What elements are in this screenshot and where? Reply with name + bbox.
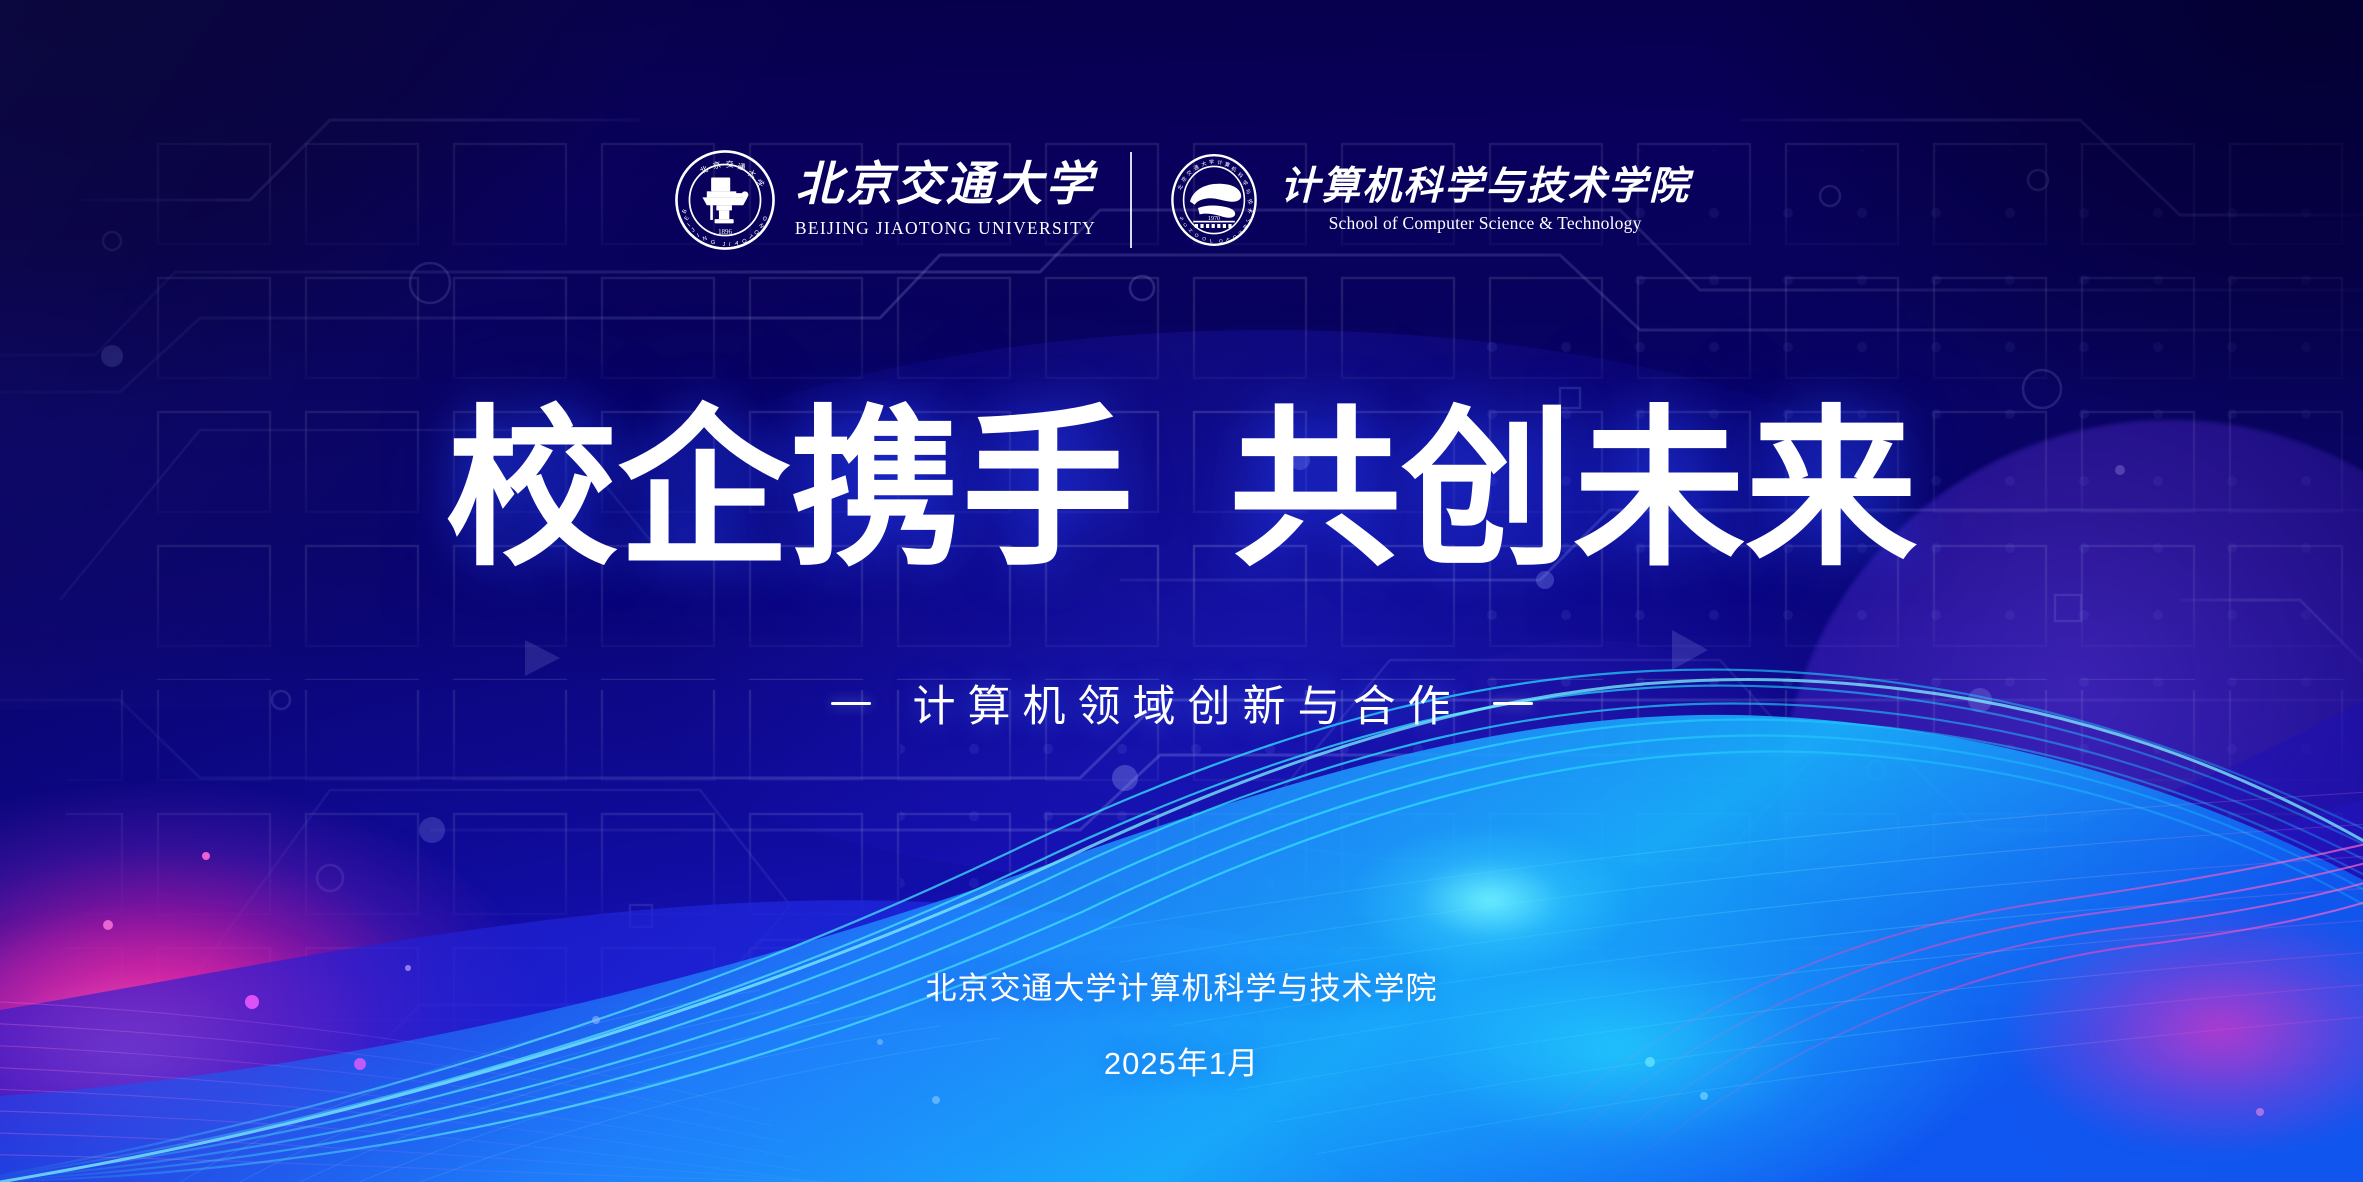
bjtu-seal-icon: 北 京 交 通 大 学 1896 B E I J I — [673, 148, 777, 252]
svg-text:1896: 1896 — [718, 229, 732, 236]
poster-canvas: 北 京 交 通 大 学 1896 B E I J I — [0, 0, 2363, 1182]
bjtu-logo-block: 北 京 交 通 大 学 1896 B E I J I — [673, 148, 1096, 252]
svg-text:算: 算 — [1224, 161, 1231, 169]
subtitle-row: 计算机领域创新与合作 — [0, 672, 2363, 734]
svg-text:S: S — [1179, 216, 1186, 222]
svg-text:学: 学 — [1209, 158, 1215, 166]
svg-text:G: G — [760, 216, 768, 223]
svg-text:技: 技 — [1246, 198, 1254, 206]
footer-date: 2025年1月 — [0, 1038, 2363, 1083]
subtitle-dash-right — [1493, 702, 1533, 705]
svg-text:计: 计 — [1217, 159, 1223, 166]
svg-text:京: 京 — [712, 159, 722, 171]
scs-logo-block: 1970 北 京 交 通 大 学 计 算 机 科 学 与 — [1166, 152, 1690, 248]
svg-text:J: J — [722, 242, 725, 248]
footer-organization: 北京交通大学计算机科学与技术学院 — [0, 963, 2363, 1008]
svg-text:B: B — [682, 208, 689, 214]
subtitle-text: 计算机领域创新与合作 — [901, 672, 1463, 734]
svg-text:J: J — [691, 227, 697, 234]
svg-text:N: N — [702, 236, 708, 243]
svg-text:H: H — [1188, 227, 1195, 234]
subtitle-dash-left — [831, 702, 871, 705]
svg-text:O: O — [1194, 232, 1200, 239]
scs-name-cn: 计算机科学与技术学院 — [1280, 167, 1690, 206]
svg-text:大: 大 — [747, 167, 758, 179]
svg-text:E: E — [684, 215, 691, 222]
footer-block: 北京交通大学计算机科学与技术学院 2025年1月 — [0, 963, 2363, 1083]
svg-text:1970: 1970 — [1208, 216, 1220, 222]
page-title: 校企携手 共创未来 — [0, 404, 2363, 576]
logo-divider — [1130, 152, 1132, 248]
svg-text:北: 北 — [1176, 183, 1185, 191]
scs-name-en: School of Computer Science & Technology — [1329, 215, 1642, 233]
svg-text:术: 术 — [1246, 208, 1254, 215]
svg-text:交: 交 — [725, 159, 733, 169]
bjtu-name-group: 北京交通大学 BEIJING JIAOTONG UNIVERSITY — [795, 162, 1096, 238]
logo-lockup: 北 京 交 通 大 学 1896 B E I J I — [0, 148, 2363, 252]
bjtu-name-en: BEIJING JIAOTONG UNIVERSITY — [795, 220, 1096, 238]
svg-text:学: 学 — [754, 177, 766, 190]
scs-name-group: 计算机科学与技术学院 School of Computer Science & … — [1280, 167, 1690, 233]
scs-bjtu-seal-icon: 1970 北 京 交 通 大 学 计 算 机 科 学 与 — [1166, 152, 1262, 248]
svg-text:G: G — [710, 240, 716, 247]
svg-text:O: O — [1202, 236, 1207, 243]
bjtu-name-cn: 北京交通大学 — [795, 162, 1095, 209]
svg-text:C: C — [1182, 222, 1189, 229]
svg-text:L: L — [1210, 238, 1213, 244]
